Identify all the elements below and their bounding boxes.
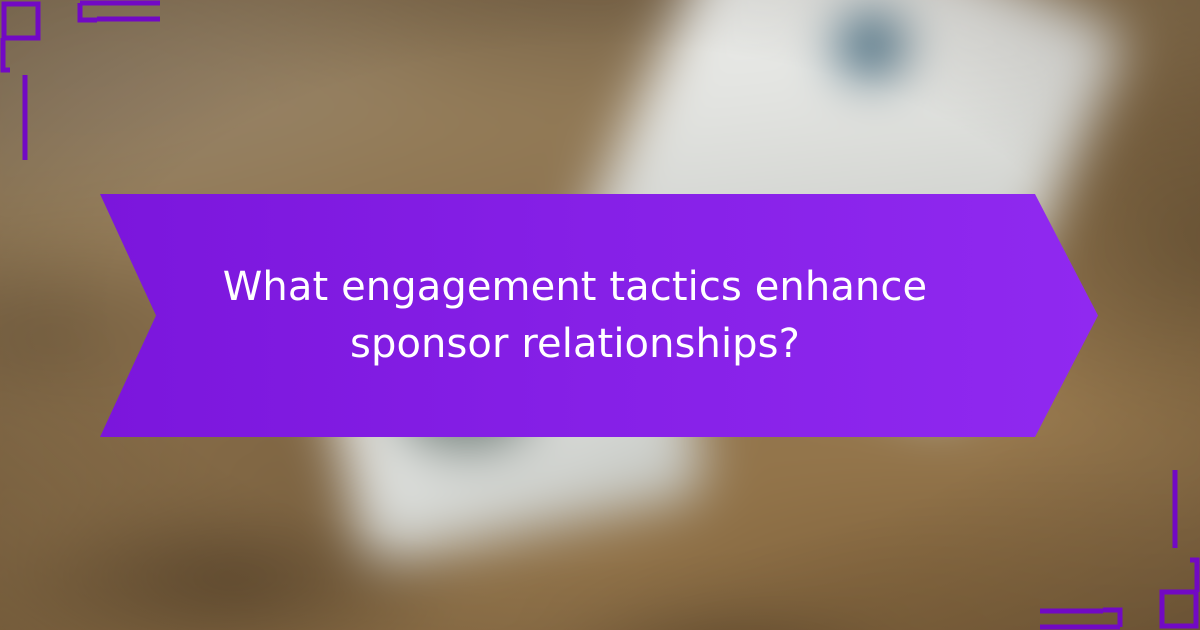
headline-text: What engagement tactics enhance sponsor …	[160, 194, 990, 437]
social-share-card: What engagement tactics enhance sponsor …	[0, 0, 1200, 630]
